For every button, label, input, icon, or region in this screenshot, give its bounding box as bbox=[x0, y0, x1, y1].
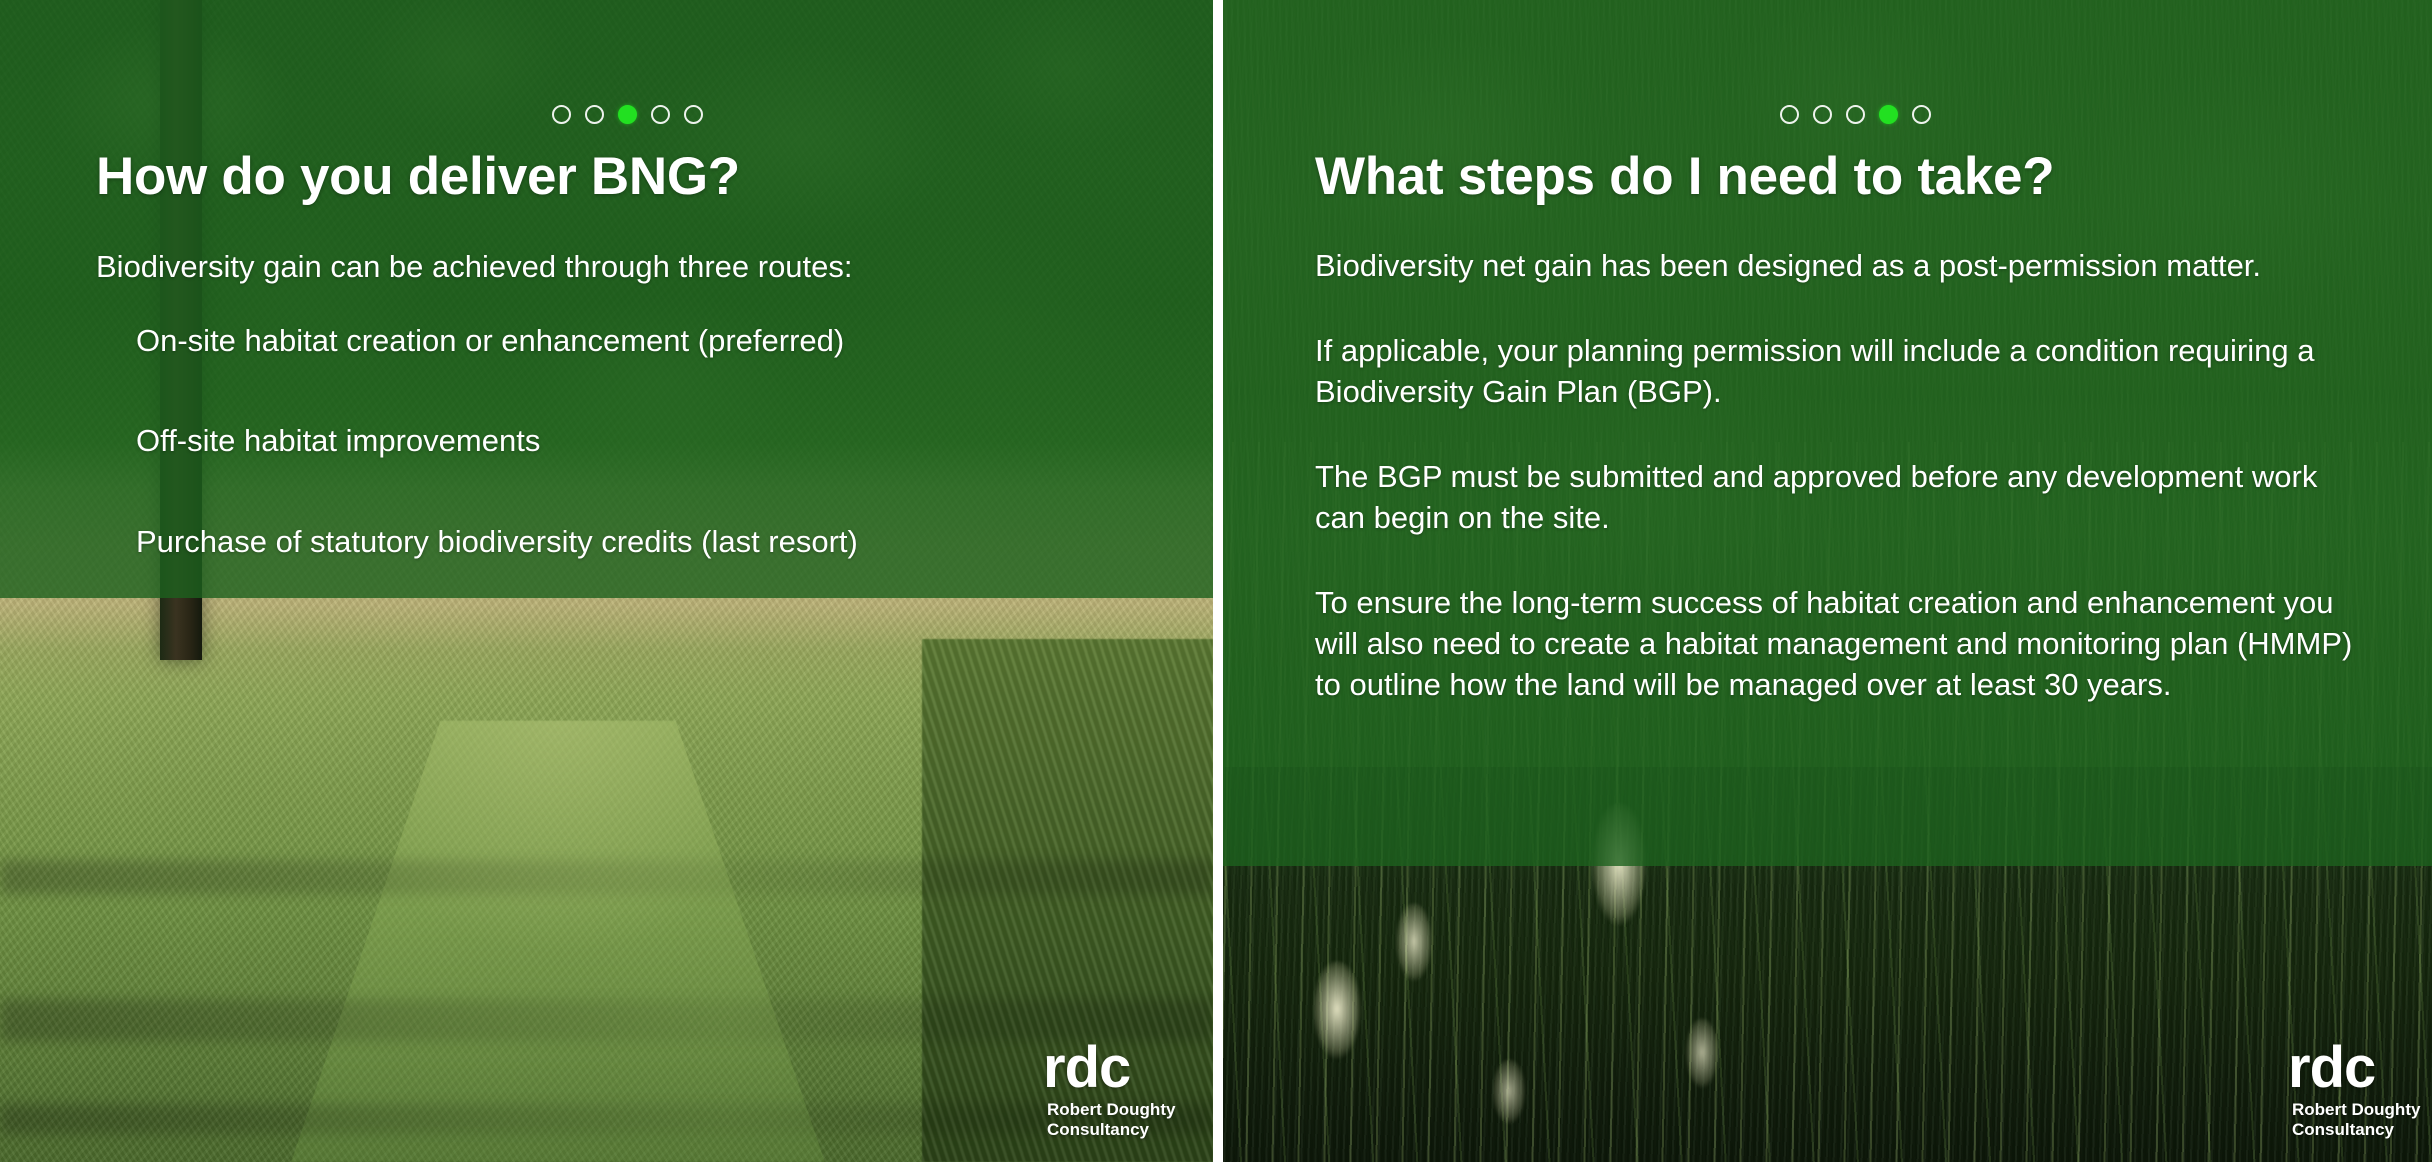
pagination-dot-5[interactable] bbox=[684, 105, 703, 124]
two-slide-comparison: How do you deliver BNG? Biodiversity gai… bbox=[0, 0, 2432, 1162]
list-item: On-site habitat creation or enhancement … bbox=[136, 320, 1126, 362]
rdc-logo: rdc Robert Doughty Consultancy bbox=[2288, 1041, 2420, 1140]
mown-grass-path bbox=[291, 720, 825, 1162]
paragraph: To ensure the long-term success of habit… bbox=[1315, 583, 2375, 706]
logo-subtitle-line2: Consultancy bbox=[1047, 1120, 1175, 1140]
slide-content: How do you deliver BNG? Biodiversity gai… bbox=[96, 148, 1126, 562]
rdc-logo: rdc Robert Doughty Consultancy bbox=[1043, 1041, 1175, 1140]
logo-subtitle-line2: Consultancy bbox=[2292, 1120, 2420, 1140]
pagination-dot-2[interactable] bbox=[585, 105, 604, 124]
pagination-dot-1[interactable] bbox=[552, 105, 571, 124]
paragraph: If applicable, your planning permission … bbox=[1315, 331, 2375, 413]
slide-content: What steps do I need to take? Biodiversi… bbox=[1315, 148, 2375, 706]
pagination-dot-4-active[interactable] bbox=[1879, 105, 1898, 124]
flower-head bbox=[1489, 1059, 1529, 1139]
list-item: Purchase of statutory biodiversity credi… bbox=[136, 521, 1126, 563]
path-shadow-band bbox=[0, 860, 1213, 894]
routes-list: On-site habitat creation or enhancement … bbox=[96, 320, 1126, 563]
lead-paragraph: Biodiversity gain can be achieved throug… bbox=[96, 246, 1126, 288]
flower-head bbox=[1308, 961, 1366, 1081]
pagination-dot-4[interactable] bbox=[651, 105, 670, 124]
steps-paragraphs: Biodiversity net gain has been designed … bbox=[1315, 246, 2375, 705]
paragraph: The BGP must be submitted and approved b… bbox=[1315, 457, 2375, 539]
slide-pagination-dots[interactable] bbox=[1780, 105, 1931, 124]
logo-subtitle-line1: Robert Doughty bbox=[1047, 1100, 1175, 1120]
logo-wordmark: rdc bbox=[1043, 1041, 1175, 1094]
slide-how-do-you-deliver-bng: How do you deliver BNG? Biodiversity gai… bbox=[0, 0, 1213, 1162]
flower-head bbox=[1682, 1018, 1722, 1104]
pagination-dot-3-active[interactable] bbox=[618, 105, 637, 124]
page-title: How do you deliver BNG? bbox=[96, 148, 1126, 206]
paragraph: Biodiversity net gain has been designed … bbox=[1315, 246, 2375, 287]
logo-subtitle-line1: Robert Doughty bbox=[2292, 1100, 2420, 1120]
path-shadow-band bbox=[0, 999, 1213, 1041]
pagination-dot-3[interactable] bbox=[1846, 105, 1865, 124]
path-shadow-band bbox=[0, 1104, 1213, 1134]
pagination-dot-1[interactable] bbox=[1780, 105, 1799, 124]
panel-divider bbox=[1213, 0, 1223, 1162]
logo-wordmark: rdc bbox=[2288, 1041, 2420, 1094]
slide-pagination-dots[interactable] bbox=[552, 105, 703, 124]
list-item: Off-site habitat improvements bbox=[136, 420, 1126, 462]
flower-head bbox=[1392, 903, 1436, 999]
page-title: What steps do I need to take? bbox=[1315, 148, 2375, 206]
pagination-dot-5[interactable] bbox=[1912, 105, 1931, 124]
pagination-dot-2[interactable] bbox=[1813, 105, 1832, 124]
